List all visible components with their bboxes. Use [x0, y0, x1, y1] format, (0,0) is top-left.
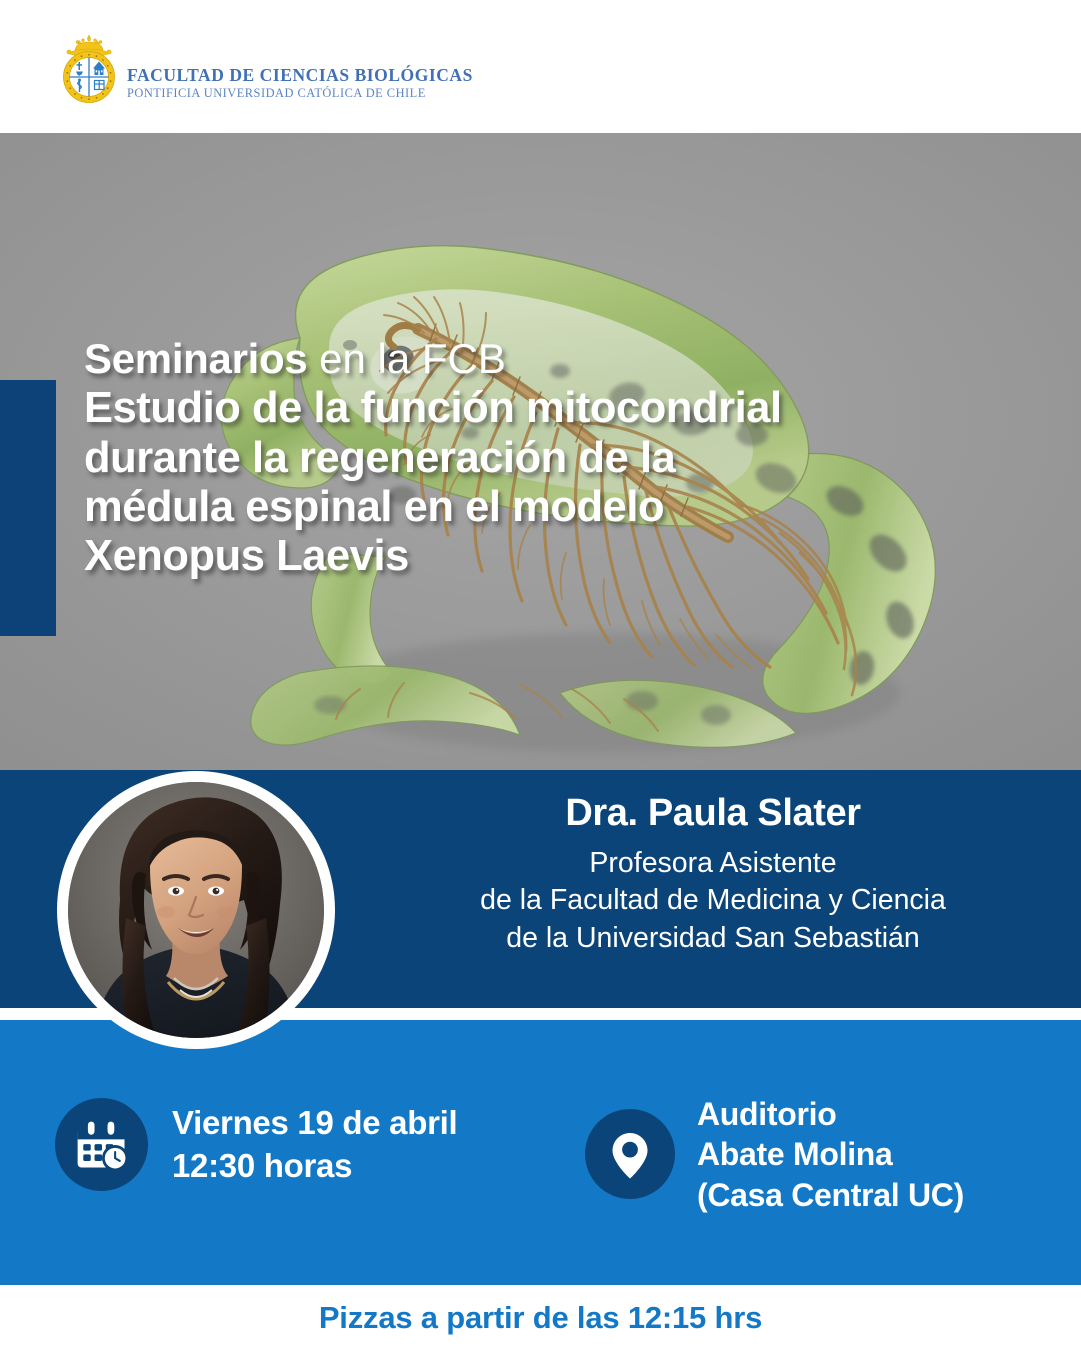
hero-eyebrow: Seminarios en la FCB [84, 336, 1044, 382]
hero-section: Seminarios en la FCB Estudio de la funci… [0, 133, 1081, 770]
hero-title-block: Seminarios en la FCB Estudio de la funci… [84, 336, 1044, 582]
page-header: FACULTAD DE CIENCIAS BIOLÓGICAS PONTIFIC… [0, 0, 1081, 133]
speaker-role: Profesora Asistente de la Facultad de Me… [345, 845, 1081, 958]
event-location-line-1: Auditorio [697, 1094, 964, 1134]
hero-eyebrow-light: en la FCB [307, 335, 505, 382]
speaker-role-line-2: de la Facultad de Medicina y Ciencia [345, 882, 1081, 920]
hero-title-line-1: Estudio de la función mitocondrial [84, 384, 1044, 433]
hero-title-line-3: médula espinal en el modelo [84, 483, 1044, 532]
event-date-text: Viernes 19 de abril 12:30 horas [172, 1102, 457, 1188]
location-pin-icon [585, 1109, 675, 1199]
speaker-portrait-photo [68, 782, 324, 1038]
event-date-block: Viernes 19 de abril 12:30 horas [55, 1098, 457, 1191]
uc-chile-shield-logo [55, 33, 123, 105]
event-date-line-2: 12:30 horas [172, 1145, 457, 1188]
event-location-line-3: (Casa Central UC) [697, 1175, 964, 1215]
calendar-clock-icon [55, 1098, 148, 1191]
event-location-text: Auditorio Abate Molina (Casa Central UC) [697, 1094, 964, 1215]
speaker-name: Dra. Paula Slater [345, 792, 1081, 836]
speaker-role-line-3: de la Universidad San Sebastián [345, 920, 1081, 958]
speaker-role-line-1: Profesora Asistente [345, 845, 1081, 883]
page-footer: Pizzas a partir de las 12:15 hrs [0, 1285, 1081, 1351]
hero-main-title: Estudio de la función mitocondrial duran… [84, 384, 1044, 581]
navy-accent-rectangle [0, 380, 56, 636]
hero-title-line-4: Xenopus Laevis [84, 532, 1044, 581]
faculty-name: FACULTAD DE CIENCIAS BIOLÓGICAS [127, 66, 473, 86]
footer-note: Pizzas a partir de las 12:15 hrs [319, 1300, 762, 1336]
hero-eyebrow-strong: Seminarios [84, 335, 307, 382]
event-location-block: Auditorio Abate Molina (Casa Central UC) [585, 1094, 964, 1215]
speaker-info: Dra. Paula Slater Profesora Asistente de… [345, 792, 1081, 958]
header-logo-text: FACULTAD DE CIENCIAS BIOLÓGICAS PONTIFIC… [127, 66, 473, 101]
university-name: PONTIFICIA UNIVERSIDAD CATÓLICA DE CHILE [127, 86, 473, 102]
event-date-line-1: Viernes 19 de abril [172, 1102, 457, 1145]
event-location-line-2: Abate Molina [697, 1134, 964, 1174]
avatar [57, 771, 335, 1049]
hero-title-line-2: durante la regeneración de la [84, 434, 1044, 483]
